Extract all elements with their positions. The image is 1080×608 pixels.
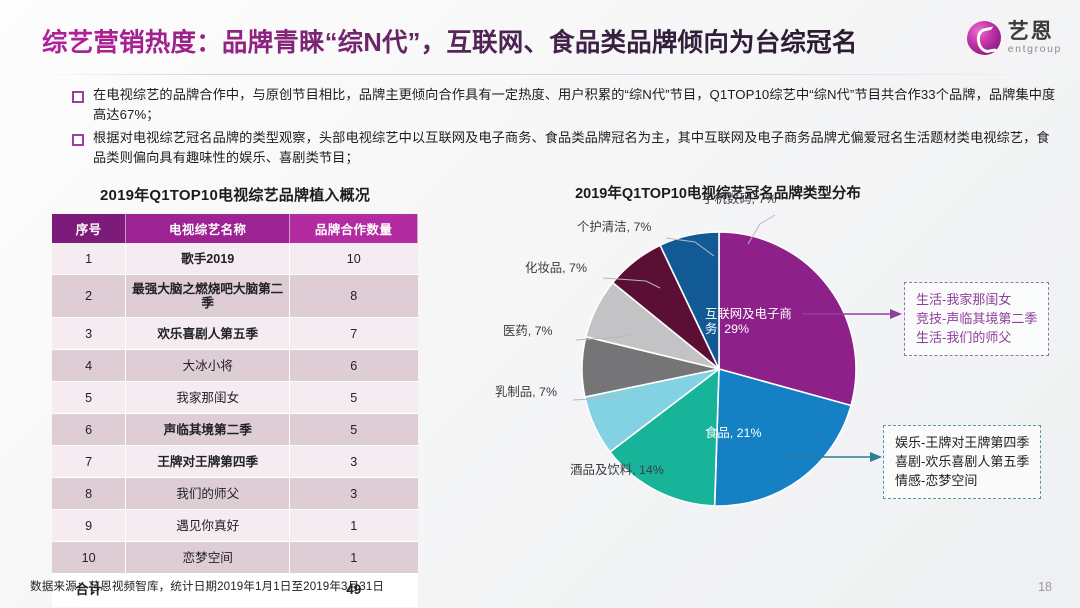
- cell-rank: 3: [52, 318, 126, 350]
- callout-line: 生活-我家那闺女: [916, 290, 1037, 309]
- list-item: 在电视综艺的品牌合作中，与原创节目相比，品牌主更倾向合作具有一定热度、用户积累的…: [72, 85, 1056, 125]
- bullet-text: 在电视综艺的品牌合作中，与原创节目相比，品牌主更倾向合作具有一定热度、用户积累的…: [93, 85, 1056, 125]
- callout-line: 情感-恋梦空间: [895, 471, 1029, 490]
- table-row: 6 声临其境第二季 5: [52, 414, 418, 446]
- cell-count: 7: [290, 318, 418, 350]
- entgroup-logo-mark-icon: [967, 21, 1001, 55]
- cell-count: 6: [290, 350, 418, 382]
- pie-label-shipin: 食品, 21%: [705, 426, 761, 441]
- square-bullet-icon: [72, 134, 84, 146]
- cell-name: 声临其境第二季: [126, 414, 290, 446]
- cell-rank: 9: [52, 510, 126, 542]
- pie-label-huazhuangpin: 化妆品, 7%: [525, 261, 587, 276]
- page-number: 18: [1038, 580, 1052, 594]
- column-header-rank: 序号: [52, 214, 126, 243]
- column-header-count: 品牌合作数量: [290, 214, 418, 243]
- source-note: 数据来源：艺恩视频智库，统计日期2019年1月1日至2019年3月31日: [30, 578, 384, 594]
- cell-count: 3: [290, 478, 418, 510]
- bullet-list: 在电视综艺的品牌合作中，与原创节目相比，品牌主更倾向合作具有一定热度、用户积累的…: [72, 85, 1056, 171]
- cell-rank: 10: [52, 542, 126, 574]
- list-item: 根据对电视综艺冠名品牌的类型观察，头部电视综艺中以互联网及电子商务、食品类品牌冠…: [72, 128, 1056, 168]
- table-row: 1 歌手2019 10: [52, 243, 418, 275]
- pie-label-ruzhipin: 乳制品, 7%: [495, 385, 557, 400]
- cell-rank: 1: [52, 243, 126, 275]
- cell-name: 大冰小将: [126, 350, 290, 382]
- table-row: 9 遇见你真好 1: [52, 510, 418, 542]
- cell-rank: 8: [52, 478, 126, 510]
- callout-line: 竞技-声临其境第二季: [916, 309, 1037, 328]
- callout-line: 娱乐-王牌对王牌第四季: [895, 433, 1029, 452]
- cell-name: 最强大脑之燃烧吧大脑第二季: [126, 275, 290, 318]
- table-row: 8 我们的师父 3: [52, 478, 418, 510]
- cell-name: 王牌对王牌第四季: [126, 446, 290, 478]
- cell-name: 欢乐喜剧人第五季: [126, 318, 290, 350]
- table-row: 2 最强大脑之燃烧吧大脑第二季 8: [52, 275, 418, 318]
- column-header-name: 电视综艺名称: [126, 214, 290, 243]
- logo-name-en: entgroup: [1008, 44, 1062, 55]
- entgroup-logo: 艺恩 entgroup: [967, 21, 1062, 55]
- cell-rank: 5: [52, 382, 126, 414]
- cell-name: 恋梦空间: [126, 542, 290, 574]
- cell-rank: 6: [52, 414, 126, 446]
- pie-label-jiupinjiyinliao: 酒品及饮料, 14%: [567, 463, 667, 478]
- cell-count: 5: [290, 414, 418, 446]
- callout-line: 生活-我们的师父: [916, 328, 1037, 347]
- brand-type-pie-panel: 2019年Q1TOP10电视综艺冠名品牌类型分布 手机数码, 7% 个护清洁, …: [470, 182, 1070, 562]
- brand-integration-table: 序号 电视综艺名称 品牌合作数量 1 歌手2019 10 2 最强大脑之燃烧吧大…: [52, 214, 418, 607]
- cell-name: 我们的师父: [126, 478, 290, 510]
- table-row: 5 我家那闺女 5: [52, 382, 418, 414]
- square-bullet-icon: [72, 91, 84, 103]
- pie-label-hulianwang: 互联网及电子商务, 29%: [705, 307, 801, 337]
- cell-rank: 4: [52, 350, 126, 382]
- cell-count: 1: [290, 542, 418, 574]
- cell-name: 歌手2019: [126, 243, 290, 275]
- cell-count: 1: [290, 510, 418, 542]
- cell-rank: 7: [52, 446, 126, 478]
- pie-label-gehuqingjie: 个护清洁, 7%: [577, 220, 651, 235]
- cell-name: 遇见你真好: [126, 510, 290, 542]
- cell-count: 3: [290, 446, 418, 478]
- cell-count: 5: [290, 382, 418, 414]
- pie-label-yiyao: 医药, 7%: [503, 324, 553, 339]
- bullet-text: 根据对电视综艺冠名品牌的类型观察，头部电视综艺中以互联网及电子商务、食品类品牌冠…: [93, 128, 1056, 168]
- cell-count: 8: [290, 275, 418, 318]
- cell-count: 10: [290, 243, 418, 275]
- page-title: 综艺营销热度：品牌青睐“综N代”，互联网、食品类品牌倾向为台综冠名: [42, 22, 858, 59]
- table-row: 7 王牌对王牌第四季 3: [52, 446, 418, 478]
- cell-name: 我家那闺女: [126, 382, 290, 414]
- table-title: 2019年Q1TOP10电视综艺品牌植入概况: [52, 184, 418, 205]
- table-row: 4 大冰小将 6: [52, 350, 418, 382]
- logo-name-cn: 艺恩: [1008, 21, 1062, 42]
- table-row: 10 恋梦空间 1: [52, 542, 418, 574]
- cell-rank: 2: [52, 275, 126, 318]
- callout-internet-ecommerce: 生活-我家那闺女 竞技-声临其境第二季 生活-我们的师父: [904, 282, 1049, 356]
- callout-line: 喜剧-欢乐喜剧人第五季: [895, 452, 1029, 471]
- table-row: 3 欢乐喜剧人第五季 7: [52, 318, 418, 350]
- title-divider: [40, 74, 1052, 75]
- pie-label-shouji: 手机数码, 7%: [702, 192, 776, 207]
- callout-food: 娱乐-王牌对王牌第四季 喜剧-欢乐喜剧人第五季 情感-恋梦空间: [883, 425, 1041, 499]
- table-header-row: 序号 电视综艺名称 品牌合作数量: [52, 214, 418, 243]
- brand-integration-table-panel: 2019年Q1TOP10电视综艺品牌植入概况 序号 电视综艺名称 品牌合作数量 …: [52, 184, 418, 607]
